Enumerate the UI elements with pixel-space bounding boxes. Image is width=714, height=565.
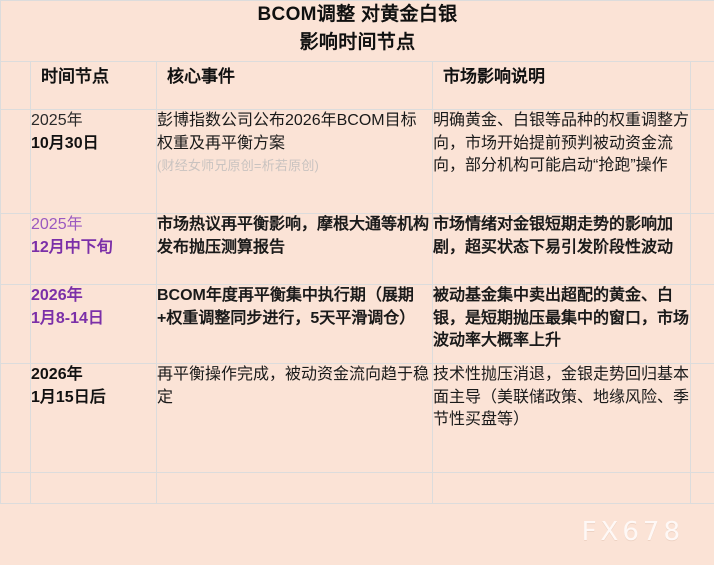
table-row: 2025年 10月30日 彭博指数公司公布2026年BCOM目标权重及再平衡方案…: [1, 110, 714, 214]
cell-event-1: 彭博指数公司公布2026年BCOM目标权重及再平衡方案 (财经女师兄原创=析若原…: [157, 110, 433, 214]
table-row-empty: [1, 473, 714, 504]
impact-text-3: 被动基金集中卖出超配的黄金、白银，是短期抛压最集中的窗口，市场波动率大概率上升: [433, 285, 690, 353]
row-gutter-left: [1, 110, 31, 214]
row-gutter-right: [691, 214, 714, 285]
page-title: BCOM调整 对黄金白银 影响时间节点: [1, 1, 714, 56]
date-year-1: 2025年: [31, 110, 156, 133]
date-year-4: 2026年: [31, 364, 156, 387]
row-gutter-right: [691, 285, 714, 364]
cell-event-2: 市场热议再平衡影响，摩根大通等机构发布抛压测算报告: [157, 214, 433, 285]
date-day-2: 12月中下旬: [31, 237, 156, 260]
table-title-cell: BCOM调整 对黄金白银 影响时间节点: [1, 1, 714, 62]
date-day-4: 1月15日后: [31, 387, 156, 410]
title-line-2: 影响时间节点: [1, 29, 714, 57]
table-row: 2026年 1月15日后 再平衡操作完成，被动资金流向趋于稳定 技术性抛压消退，…: [1, 364, 714, 473]
cell-impact-4: 技术性抛压消退，金银走势回归基本面主导（美联储政策、地缘风险、季节性买盘等）: [433, 364, 691, 473]
cell-impact-2: 市场情绪对金银短期走势的影响加剧，超买状态下易引发阶段性波动: [433, 214, 691, 285]
column-header-impact-label: 市场影响说明: [433, 67, 545, 86]
column-header-time-label: 时间节点: [31, 67, 109, 86]
table-header-row: 时间节点 核心事件 市场影响说明: [1, 62, 714, 110]
row-gutter-left: [1, 473, 31, 504]
date-year-3: 2026年: [31, 285, 156, 308]
cell-time-2: 2025年 12月中下旬: [31, 214, 157, 285]
spreadsheet-canvas: BCOM调整 对黄金白银 影响时间节点 时间节点 核心事件 市场影响说明: [0, 0, 714, 565]
column-header-impact: 市场影响说明: [433, 62, 691, 110]
cell-time-3: 2026年 1月8-14日: [31, 285, 157, 364]
row-gutter-right: [691, 473, 714, 504]
cell-event-empty: [157, 473, 433, 504]
table-row: 2026年 1月8-14日 BCOM年度再平衡集中执行期（展期+权重调整同步进行…: [1, 285, 714, 364]
event-text-3: BCOM年度再平衡集中执行期（展期+权重调整同步进行，5天平滑调仓）: [157, 285, 432, 330]
cell-impact-3: 被动基金集中卖出超配的黄金、白银，是短期抛压最集中的窗口，市场波动率大概率上升: [433, 285, 691, 364]
row-gutter-left: [1, 214, 31, 285]
row-gutter-left: [1, 285, 31, 364]
event-note-1: (财经女师兄原创=析若原创): [157, 157, 432, 175]
date-year-2: 2025年: [31, 214, 156, 237]
table-title-row: BCOM调整 对黄金白银 影响时间节点: [1, 1, 714, 62]
timeline-table: BCOM调整 对黄金白银 影响时间节点 时间节点 核心事件 市场影响说明: [0, 0, 714, 504]
impact-text-4: 技术性抛压消退，金银走势回归基本面主导（美联储政策、地缘风险、季节性买盘等）: [433, 364, 690, 432]
cell-time-empty: [31, 473, 157, 504]
cell-time-4: 2026年 1月15日后: [31, 364, 157, 473]
watermark-fx678: FX678: [582, 517, 684, 547]
cell-impact-1: 明确黄金、白银等品种的权重调整方向，市场开始提前预判被动资金流向，部分机构可能启…: [433, 110, 691, 214]
header-gutter-right: [691, 62, 714, 110]
table-row: 2025年 12月中下旬 市场热议再平衡影响，摩根大通等机构发布抛压测算报告 市…: [1, 214, 714, 285]
date-day-1: 10月30日: [31, 133, 156, 156]
column-header-time: 时间节点: [31, 62, 157, 110]
cell-event-4: 再平衡操作完成，被动资金流向趋于稳定: [157, 364, 433, 473]
title-line-1: BCOM调整 对黄金白银: [1, 1, 714, 29]
event-text-4: 再平衡操作完成，被动资金流向趋于稳定: [157, 364, 432, 409]
event-text-2: 市场热议再平衡影响，摩根大通等机构发布抛压测算报告: [157, 214, 432, 259]
impact-text-1: 明确黄金、白银等品种的权重调整方向，市场开始提前预判被动资金流向，部分机构可能启…: [433, 110, 690, 178]
date-day-3: 1月8-14日: [31, 308, 156, 331]
cell-event-3: BCOM年度再平衡集中执行期（展期+权重调整同步进行，5天平滑调仓）: [157, 285, 433, 364]
event-text-1: 彭博指数公司公布2026年BCOM目标权重及再平衡方案: [157, 110, 432, 155]
header-gutter-left: [1, 62, 31, 110]
row-gutter-right: [691, 364, 714, 473]
column-header-event-label: 核心事件: [157, 67, 235, 86]
column-header-event: 核心事件: [157, 62, 433, 110]
row-gutter-right: [691, 110, 714, 214]
impact-text-2: 市场情绪对金银短期走势的影响加剧，超买状态下易引发阶段性波动: [433, 214, 690, 259]
row-gutter-left: [1, 364, 31, 473]
cell-impact-empty: [433, 473, 691, 504]
cell-time-1: 2025年 10月30日: [31, 110, 157, 214]
